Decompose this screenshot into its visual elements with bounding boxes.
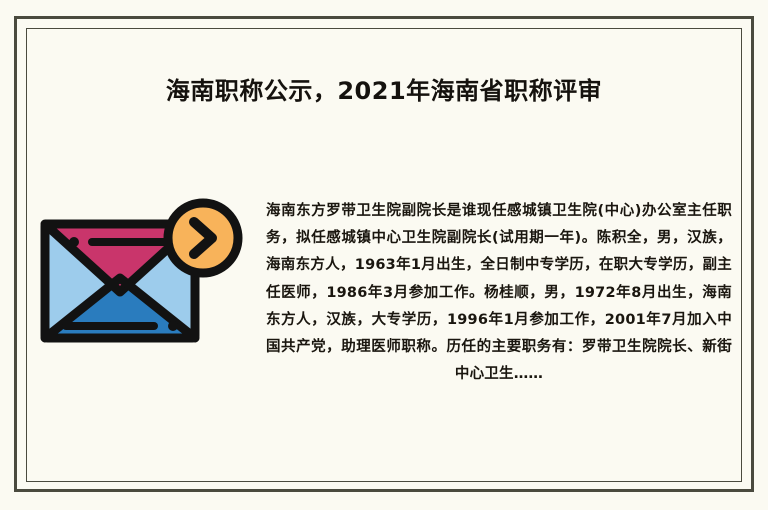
envelope-icon bbox=[40, 192, 255, 357]
article-body-text: 海南东方罗带卫生院副院长是谁现任感城镇卫生院(中心)办公室主任职务，拟任感城镇中… bbox=[266, 198, 732, 388]
page-root: 海南职称公示，2021年海南省职称评审 bbox=[0, 0, 768, 510]
content-area: 海南东方罗带卫生院副院长是谁现任感城镇卫生院(中心)办公室主任职务，拟任感城镇中… bbox=[26, 180, 742, 470]
page-title: 海南职称公示，2021年海南省职称评审 bbox=[26, 76, 742, 106]
